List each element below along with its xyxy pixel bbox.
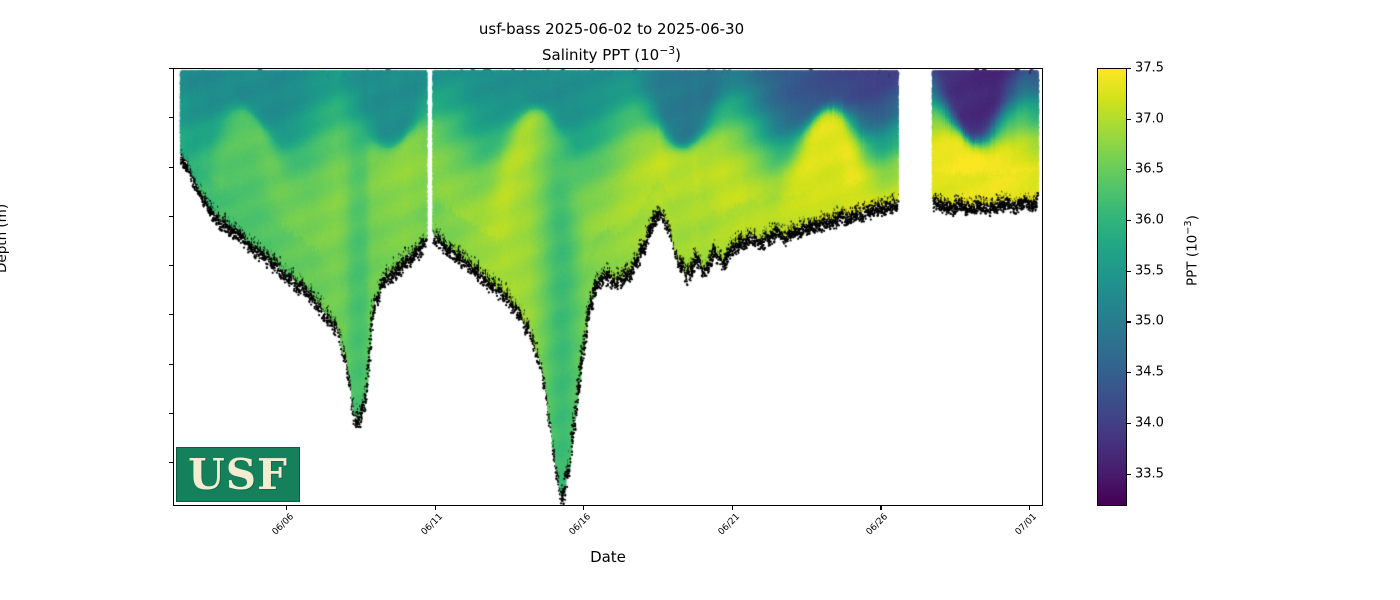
x-tick-label-06-11: 06/11 [419,512,444,537]
title-variable: Salinity PPT (10 [542,46,659,64]
salinity-depth-figure: usf-bass 2025-06-02 to 2025-06-30 Salini… [0,0,1400,600]
x-tick-mark [583,506,584,510]
x-tick-mark [1029,506,1030,510]
x-tick-mark [732,506,733,510]
y-tick-mark [169,167,173,168]
colorbar-tick-label-34.0: 34.0 [1135,415,1164,430]
colorbar-tick-mark [1127,474,1131,475]
figure-title-line2: Salinity PPT (10−3) [0,44,1223,64]
title-exponent: −3 [659,44,675,57]
colorbar-tick-label-33.5: 33.5 [1135,466,1164,481]
y-tick-mark [169,265,173,266]
x-tick-label-06-06: 06/06 [271,512,296,537]
x-tick-label-06-16: 06/16 [568,512,593,537]
figure-title-line1: usf-bass 2025-06-02 to 2025-06-30 [0,20,1223,38]
y-axis-label: Depth (m) [0,204,10,273]
y-tick-mark [169,216,173,217]
colorbar-label: PPT (10−3) [1183,215,1201,286]
colorbar-gradient [1098,69,1126,505]
colorbar-tick-label-36.0: 36.0 [1135,213,1164,228]
y-tick-mark [169,364,173,365]
plot-area [173,68,1043,506]
colorbar-tick-mark [1127,423,1131,424]
y-tick-mark [169,117,173,118]
y-tick-mark [169,314,173,315]
colorbar-tick-label-35.5: 35.5 [1135,263,1164,278]
x-tick-label-06-26: 06/26 [865,512,890,537]
colorbar-label-suffix: ) [1185,215,1201,220]
y-tick-mark [169,462,173,463]
colorbar-tick-label-34.5: 34.5 [1135,365,1164,380]
colorbar-tick-mark [1127,169,1131,170]
colorbar-label-prefix: PPT (10 [1185,235,1201,286]
usf-logo-text: USF [188,454,288,496]
colorbar-tick-mark [1127,119,1131,120]
y-tick-mark [169,68,173,69]
x-tick-mark [435,506,436,510]
colorbar-tick-mark [1127,220,1131,221]
colorbar-tick-label-37.5: 37.5 [1135,61,1164,76]
x-axis-label: Date [173,548,1043,566]
colorbar-tick-mark [1127,68,1131,69]
x-tick-label-07-01: 07/01 [1014,512,1039,537]
scatter-plot-canvas [174,69,1042,505]
x-tick-mark [286,506,287,510]
colorbar-tick-label-36.5: 36.5 [1135,162,1164,177]
x-tick-label-06-21: 06/21 [717,512,742,537]
colorbar-tick-mark [1127,321,1131,322]
usf-logo: USF [176,447,300,502]
colorbar [1097,68,1127,506]
colorbar-tick-mark [1127,271,1131,272]
y-tick-mark [169,413,173,414]
title-suffix: ) [675,46,681,64]
colorbar-label-exponent: −3 [1183,220,1194,234]
colorbar-tick-label-37.0: 37.0 [1135,111,1164,126]
colorbar-tick-mark [1127,372,1131,373]
x-tick-mark [880,506,881,510]
colorbar-tick-label-35.0: 35.0 [1135,314,1164,329]
